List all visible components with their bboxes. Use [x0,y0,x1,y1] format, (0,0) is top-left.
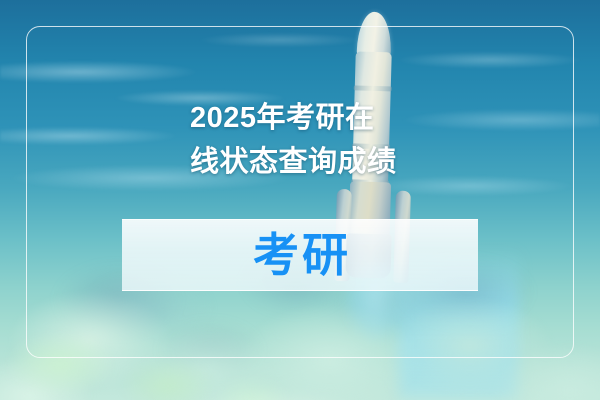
keyword-band: 考研 [122,219,478,291]
rocket-ring [354,85,392,91]
exhaust-plume-green-highlight [0,290,310,400]
banner-headline: 2025年考研在 线状态查询成绩 [190,96,490,184]
keyword-label: 考研 [249,232,351,278]
banner-canvas: 2025年考研在 线状态查询成绩 考研 [0,0,600,400]
